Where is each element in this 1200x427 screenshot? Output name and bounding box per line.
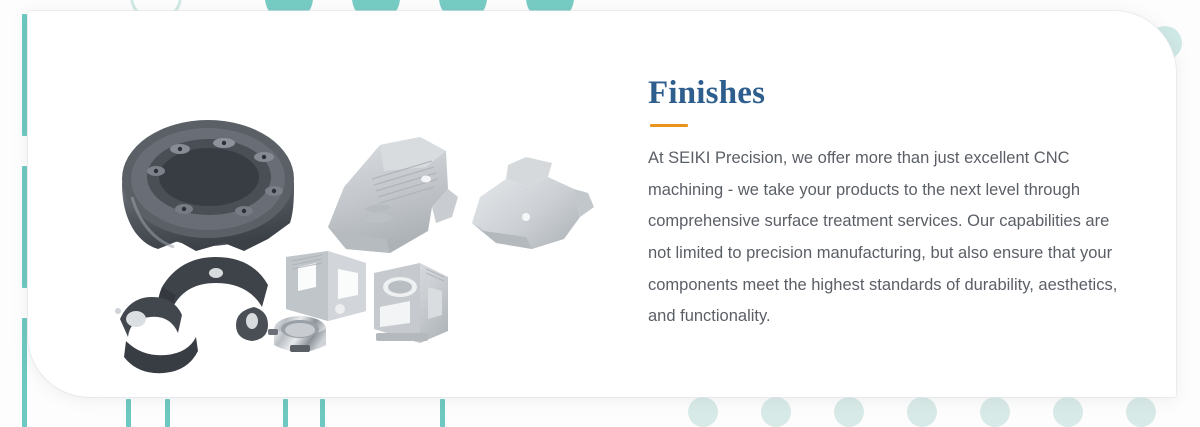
clamp-ring-part (268, 316, 326, 352)
angled-bracket-part (115, 297, 198, 373)
curved-bracket-part (158, 257, 269, 341)
teal-bar-decoration (22, 14, 27, 136)
teal-bar-decoration (165, 399, 170, 427)
teal-bar-decoration (22, 318, 27, 427)
teal-bar-decoration (22, 166, 27, 288)
product-image (28, 11, 628, 397)
teal-dot-decoration (1126, 397, 1156, 427)
teal-dot-decoration (834, 397, 864, 427)
ribbed-casting-part (328, 137, 458, 253)
teal-dot-decoration (1053, 397, 1083, 427)
teal-bar-decoration (440, 399, 445, 427)
teal-dot-decoration (980, 397, 1010, 427)
teal-bar-decoration (283, 399, 288, 427)
sheet-metal-box-part (286, 251, 366, 321)
wide-bracket-part (472, 157, 594, 249)
teal-dot-decoration (761, 397, 791, 427)
teal-bar-decoration (126, 399, 131, 427)
heading-accent-rule (650, 124, 688, 127)
teal-bar-decoration (320, 399, 325, 427)
description-paragraph: At SEIKI Precision, we offer more than j… (648, 143, 1130, 333)
page-title: Finishes (648, 75, 1130, 111)
teal-dot-decoration (907, 397, 937, 427)
text-column: Finishes At SEIKI Precision, we offer mo… (628, 75, 1176, 333)
round-housing-part (122, 120, 294, 251)
metal-parts-illustration (28, 11, 628, 397)
finishes-card: Finishes At SEIKI Precision, we offer mo… (28, 11, 1176, 397)
teal-dot-decoration (688, 397, 718, 427)
finned-module-part (374, 263, 448, 343)
